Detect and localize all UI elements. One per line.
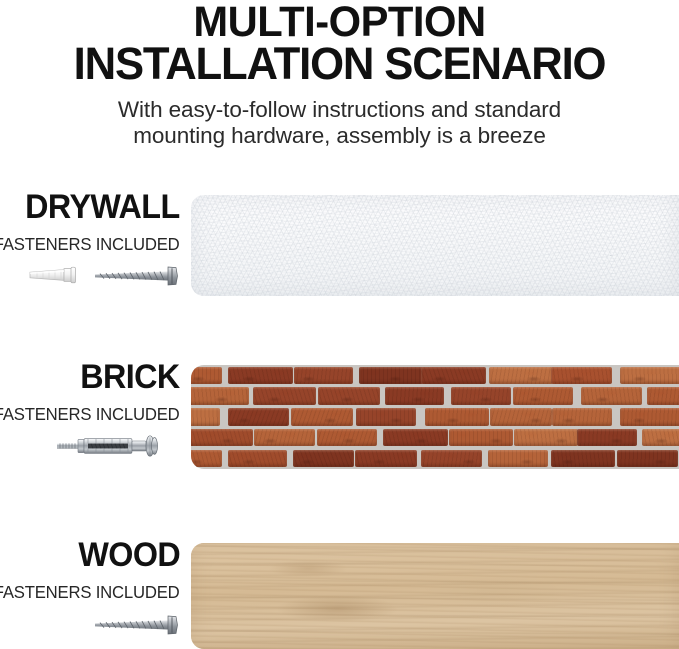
surface-panel-drywall xyxy=(191,195,679,296)
brick-unit xyxy=(356,408,416,425)
brick-unit xyxy=(489,367,553,384)
brick-unit xyxy=(291,408,354,425)
brick-unit xyxy=(191,387,249,404)
brick-unit xyxy=(425,408,489,425)
brick-unit xyxy=(451,387,511,404)
brick-unit xyxy=(385,387,445,404)
brick-unit xyxy=(191,408,220,425)
brick-unit xyxy=(577,429,637,446)
fasteners-included-label-wood: FASTENERS INCLUDED xyxy=(0,584,180,601)
drywall-anchor-icon xyxy=(30,267,76,283)
brick-unit xyxy=(355,450,417,467)
brick-unit xyxy=(490,408,552,425)
material-label-column-wood: WOOD FASTENERS INCLUDED xyxy=(0,536,183,649)
brick-unit xyxy=(318,387,380,404)
hardware-illustration-drywall xyxy=(0,256,183,296)
brick-unit xyxy=(421,450,482,467)
brick-unit xyxy=(513,387,573,404)
brick-course xyxy=(191,407,679,428)
brick-hardware-svg xyxy=(0,426,183,466)
brick-unit xyxy=(191,367,222,384)
brick-unit xyxy=(449,429,513,446)
material-label-column-brick: BRICK FASTENERS INCLUDED xyxy=(0,358,183,470)
page-title-line-2: INSTALLATION SCENARIO xyxy=(10,43,669,86)
brick-unit xyxy=(317,429,377,446)
brick-course xyxy=(191,386,679,407)
material-heading-drywall: DRYWALL xyxy=(25,190,180,224)
material-row-brick: BRICK FASTENERS INCLUDED xyxy=(0,358,679,470)
drywall-texture xyxy=(191,195,679,296)
brick-unit xyxy=(620,408,679,425)
brick-course xyxy=(191,427,679,448)
brick-unit xyxy=(488,450,548,467)
brick-unit xyxy=(617,450,677,467)
drywall-hardware-svg xyxy=(0,256,183,296)
brick-unit xyxy=(551,450,615,467)
brick-unit xyxy=(191,450,222,467)
brick-unit xyxy=(642,429,679,446)
brick-course xyxy=(191,365,679,386)
brick-unit xyxy=(253,387,316,404)
brick-course xyxy=(191,448,679,469)
page-subtitle-line-1: With easy-to-follow instructions and sta… xyxy=(0,97,679,124)
brick-texture xyxy=(191,365,679,469)
surface-panel-wood xyxy=(191,543,679,649)
page-subtitle-line-2: mounting hardware, assembly is a breeze xyxy=(0,123,679,150)
page-title: MULTI-OPTION INSTALLATION SCENARIO xyxy=(10,2,669,86)
brick-unit xyxy=(581,387,643,404)
brick-unit xyxy=(191,429,253,446)
brick-unit xyxy=(294,367,353,384)
fasteners-included-label-drywall: FASTENERS INCLUDED xyxy=(0,236,180,253)
brick-unit xyxy=(514,429,578,446)
material-row-wood: WOOD FASTENERS INCLUDED xyxy=(0,536,679,649)
molly-bolt-anchor-icon xyxy=(57,436,158,456)
wood-texture xyxy=(191,543,679,649)
hardware-illustration-wood xyxy=(0,605,183,645)
material-heading-brick: BRICK xyxy=(81,360,180,394)
wood-hardware-svg xyxy=(0,605,183,645)
fasteners-included-label-brick: FASTENERS INCLUDED xyxy=(0,406,180,423)
page-subtitle: With easy-to-follow instructions and sta… xyxy=(0,97,679,150)
header-block: MULTI-OPTION INSTALLATION SCENARIO With … xyxy=(0,0,679,150)
hardware-illustration-brick xyxy=(0,426,183,466)
material-row-drywall: DRYWALL FASTENERS INCLUDED xyxy=(0,188,679,300)
wood-screw-icon xyxy=(95,616,178,634)
brick-unit xyxy=(293,450,355,467)
brick-unit xyxy=(359,367,423,384)
brick-unit xyxy=(647,387,679,404)
surface-panel-brick xyxy=(191,365,679,469)
brick-unit xyxy=(228,450,287,467)
brick-unit xyxy=(383,429,448,446)
brick-unit xyxy=(254,429,315,446)
brick-unit xyxy=(620,367,679,384)
brick-unit xyxy=(552,408,612,425)
page-title-line-1: MULTI-OPTION xyxy=(10,2,669,43)
brick-unit xyxy=(551,367,612,384)
wood-screw-icon xyxy=(95,267,178,285)
brick-unit xyxy=(228,408,289,425)
brick-unit xyxy=(228,367,293,384)
material-heading-wood: WOOD xyxy=(78,538,180,572)
brick-unit xyxy=(421,367,486,384)
material-label-column-drywall: DRYWALL FASTENERS INCLUDED xyxy=(0,188,183,300)
